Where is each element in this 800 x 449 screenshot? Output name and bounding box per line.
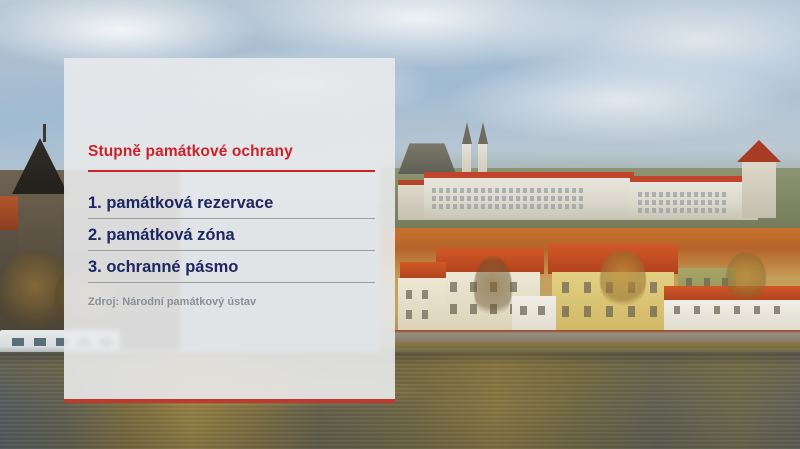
tree-mid-1 (474, 256, 512, 318)
building-left-cream (398, 278, 446, 334)
list-item-3: 3. ochranné pásmo (88, 258, 238, 277)
castle-east-window-grid (638, 192, 726, 213)
infographic-slide: Stupně památkové ochrany 1. památková re… (0, 0, 800, 449)
panel-title: Stupně památkové ochrany (88, 143, 293, 161)
tree-right-2 (726, 252, 766, 302)
tree-right-1 (600, 250, 646, 308)
cathedral-tower-left (462, 142, 471, 176)
title-underline-rule (88, 170, 375, 172)
cathedral-tower-right (478, 142, 487, 176)
panel-accent-bar (64, 399, 395, 403)
cathedral-spire-right (478, 122, 488, 144)
source-attribution: Zdroj: Národní památkový ústav (88, 296, 256, 308)
list-item-2: 2. památková zóna (88, 226, 235, 245)
list-item-1: 1. památková rezervace (88, 194, 273, 213)
cathedral-spire-left (462, 122, 472, 144)
arcade-building (664, 300, 800, 332)
castle-main-palace (424, 172, 634, 220)
divider-1 (88, 218, 375, 219)
divider-3 (88, 282, 375, 283)
black-tower-red-roof (742, 160, 776, 218)
white-house-riverside (512, 296, 556, 334)
divider-2 (88, 250, 375, 251)
info-panel: Stupně památkové ochrany 1. památková re… (64, 58, 395, 403)
castle-window-grid (432, 188, 583, 209)
castle-east-wing (630, 176, 758, 220)
bridge-tower-finial (43, 124, 46, 142)
